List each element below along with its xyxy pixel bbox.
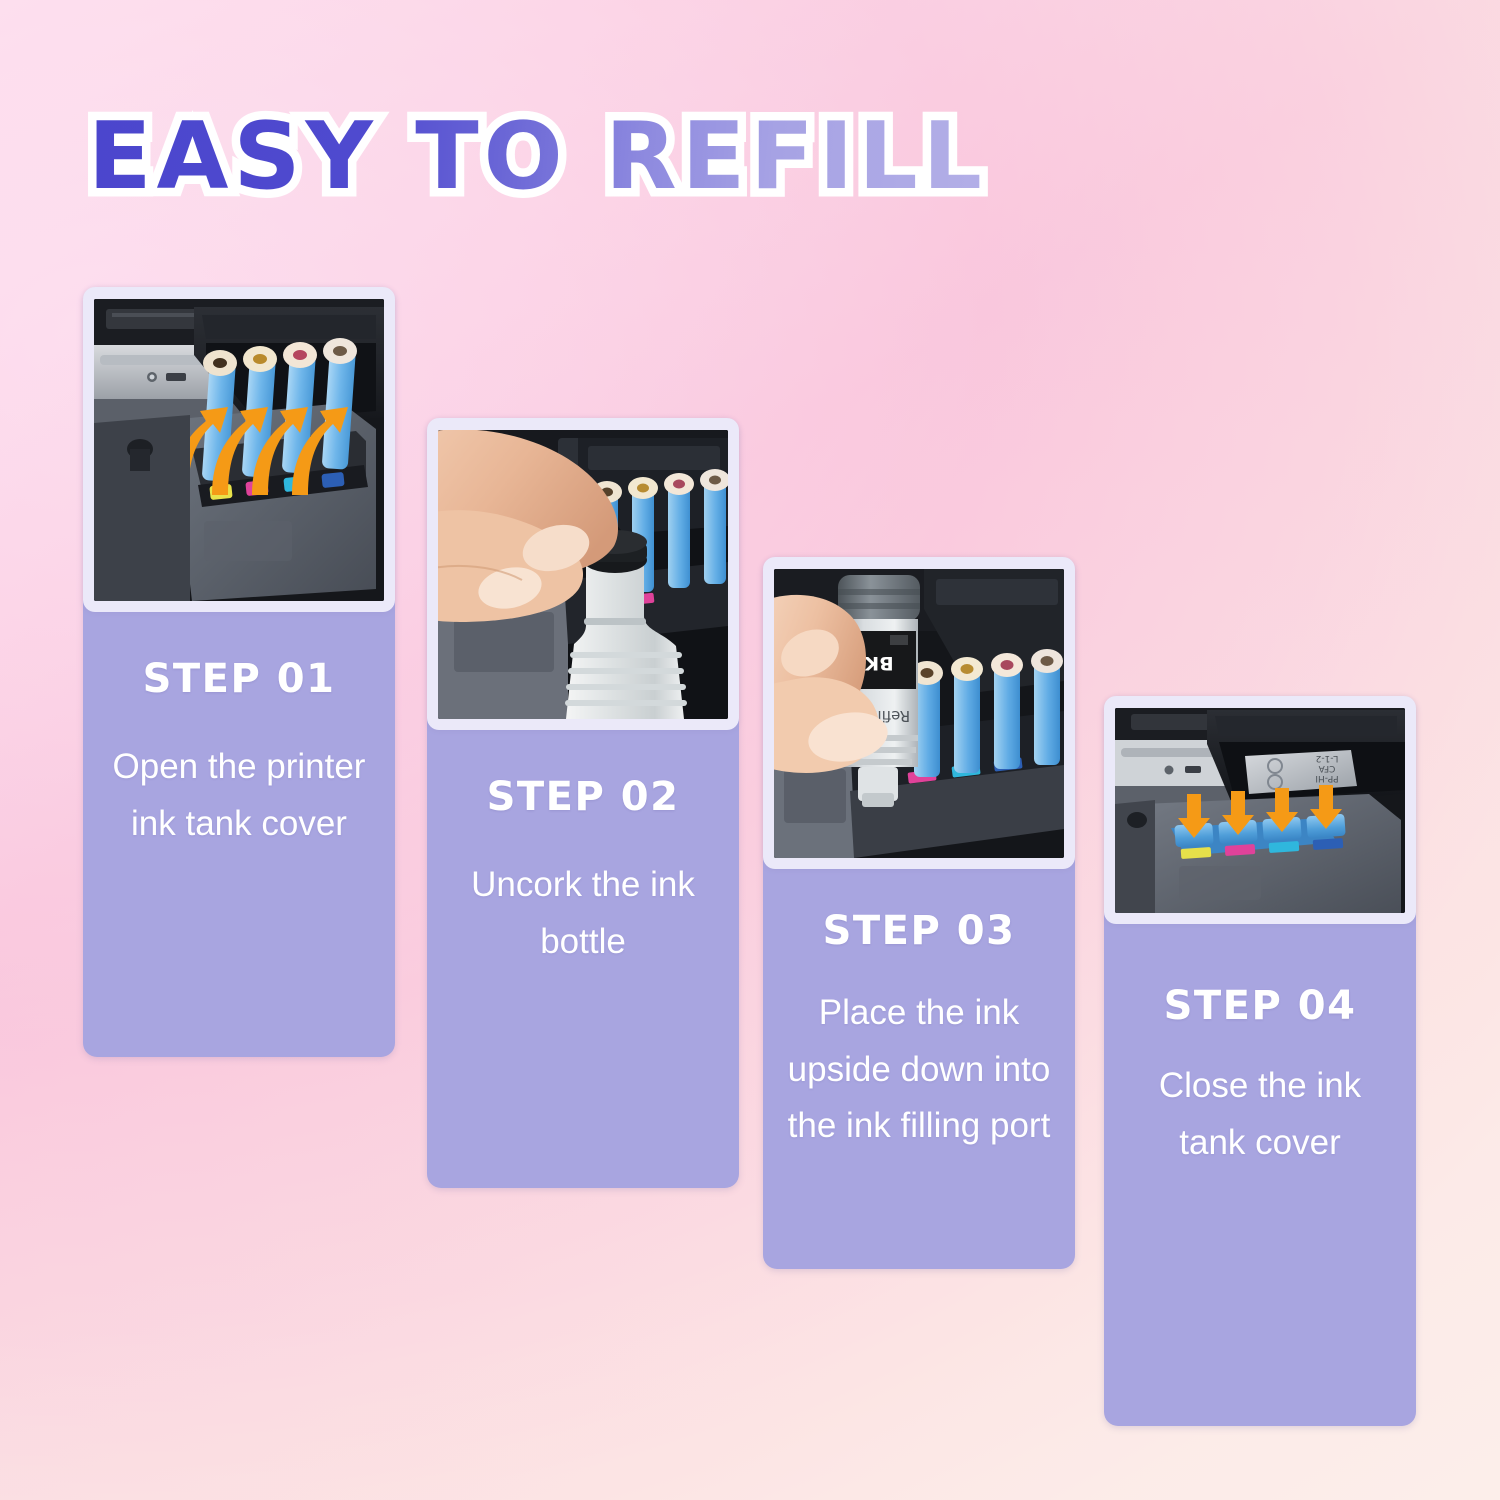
step-3-body: STEP 03 Place the ink upside down into t…: [763, 557, 1075, 1155]
step-1-label: STEP 01: [101, 657, 377, 701]
step-1-text: Open the printer ink tank cover: [101, 739, 377, 852]
step-card-2: STEP 02 Uncork the ink bottle: [427, 418, 739, 1188]
step-2-label: STEP 02: [445, 775, 721, 819]
step-card-3: BK Refill Ink: [763, 557, 1075, 1269]
step-3-label: STEP 03: [781, 909, 1057, 953]
step-3-text: Place the ink upside down into the ink f…: [781, 985, 1057, 1155]
page-title-text: EASY TO REFILL: [88, 102, 987, 210]
step-2-text: Uncork the ink bottle: [445, 857, 721, 970]
page-title: EASY TO REFILL EASY TO REFILL: [88, 110, 987, 203]
step-card-1: STEP 01 Open the printer ink tank cover: [83, 287, 395, 1057]
step-4-body: STEP 04 Close the ink tank cover: [1104, 696, 1416, 1171]
step-card-4: PP-HI CFA L-1-2: [1104, 696, 1416, 1426]
step-4-label: STEP 04: [1122, 984, 1398, 1028]
poster-canvas: EASY TO REFILL EASY TO REFILL: [0, 0, 1500, 1500]
step-1-body: STEP 01 Open the printer ink tank cover: [83, 287, 395, 852]
step-4-text: Close the ink tank cover: [1122, 1058, 1398, 1171]
step-2-body: STEP 02 Uncork the ink bottle: [427, 418, 739, 970]
